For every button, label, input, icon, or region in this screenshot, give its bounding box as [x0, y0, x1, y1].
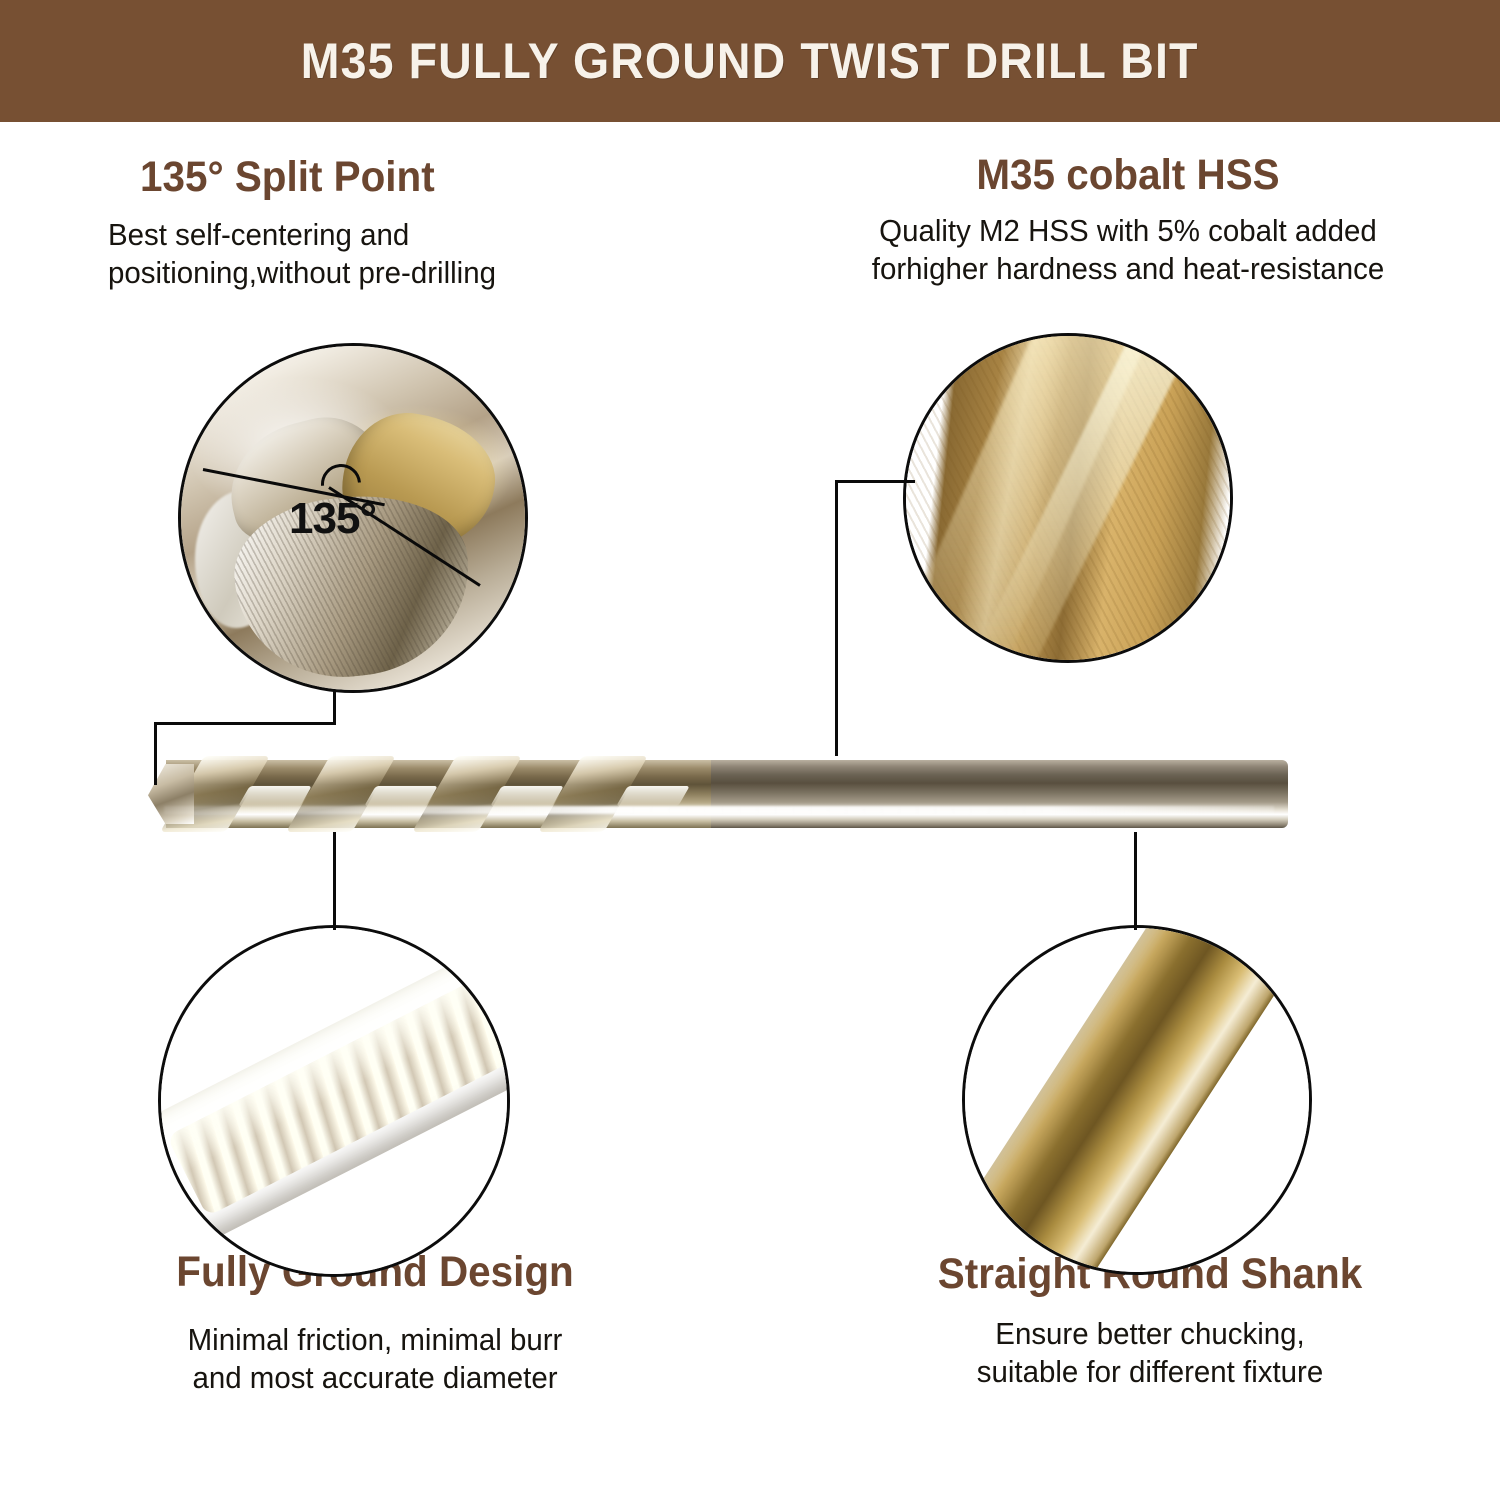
feature-body-split-point-line2: positioning,without pre-drilling: [108, 254, 496, 292]
infographic-canvas: M35 FULLY GROUND TWIST DRILL BIT 135° Sp…: [0, 0, 1500, 1500]
ground-flute-photo: [161, 928, 507, 1274]
callout-ground-flute-macro: [158, 925, 510, 1277]
leader-line-fully-ground: [333, 832, 336, 930]
feature-title-cobalt-hss: M35 cobalt HSS: [837, 153, 1420, 198]
page-title: M35 FULLY GROUND TWIST DRILL BIT: [301, 32, 1199, 90]
flute-groove: [490, 786, 564, 806]
drill-point-photo: 135°: [181, 346, 525, 690]
feature-body-straight-shank-line2: suitable for different fixture: [884, 1353, 1416, 1391]
feature-body-cobalt-hss-line2: forhigher hardness and heat-resistance: [834, 250, 1423, 288]
round-shank-photo: [965, 928, 1309, 1272]
cobalt-flute-photo: [906, 336, 1230, 660]
leader-line-cobalt-segment-1: [835, 480, 915, 483]
drill-shank-section: [678, 760, 1288, 828]
callout-cobalt-flute-macro: [903, 333, 1233, 663]
main-drill-bit-image: [148, 746, 1288, 842]
round-shank-rod: [962, 925, 1312, 1275]
leader-line-split-point-segment-1: [333, 690, 336, 725]
feature-block-cobalt-hss: M35 cobalt HSS Quality M2 HSS with 5% co…: [818, 153, 1438, 288]
feature-body-fully-ground-line1: Minimal friction, minimal burr: [104, 1321, 646, 1359]
leader-line-split-point-segment-3: [154, 722, 157, 785]
flute-groove: [616, 786, 690, 806]
callout-round-shank-macro: [962, 925, 1312, 1275]
feature-body-straight-shank-line1: Ensure better chucking,: [884, 1315, 1416, 1353]
leader-line-split-point-segment-2: [154, 722, 336, 725]
feature-body-fully-ground-line2: and most accurate diameter: [104, 1359, 646, 1397]
drill-specular-highlight: [164, 806, 1274, 814]
feature-body-split-point-line1: Best self-centering and: [108, 216, 496, 254]
drill-flute-section: [148, 752, 708, 836]
leader-line-straight-shank: [1134, 832, 1137, 930]
feature-block-split-point: 135° Split Point Best self-centering and…: [108, 155, 516, 292]
feature-title-split-point: 135° Split Point: [140, 155, 494, 200]
flute-groove: [364, 786, 438, 806]
header-banner: M35 FULLY GROUND TWIST DRILL BIT: [0, 0, 1500, 122]
feature-body-cobalt-hss-line1: Quality M2 HSS with 5% cobalt added: [834, 212, 1423, 250]
flute-groove: [238, 786, 312, 806]
leader-line-cobalt-segment-2: [835, 480, 838, 756]
callout-drill-point-macro: 135°: [178, 343, 528, 693]
angle-label: 135°: [289, 494, 376, 544]
